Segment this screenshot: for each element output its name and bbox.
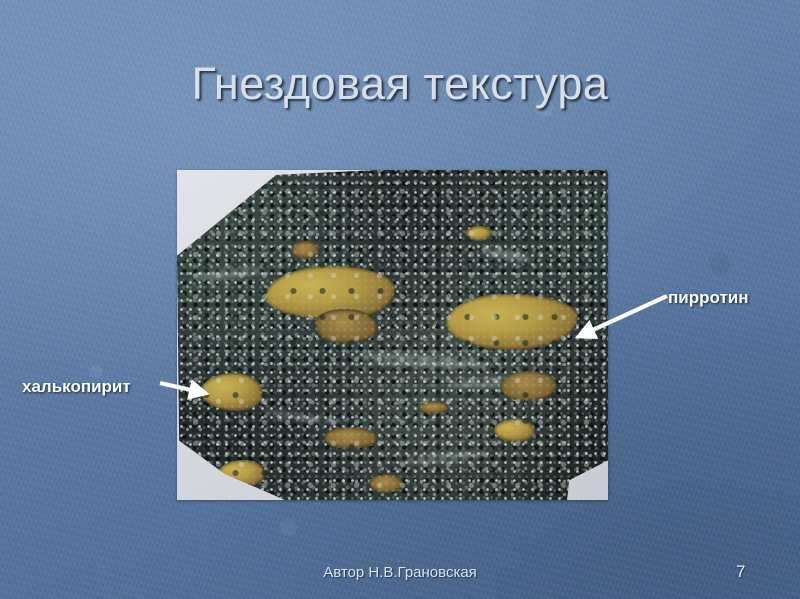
rock-specimen	[177, 170, 608, 500]
rock-sample-photo	[177, 170, 608, 500]
slide-title: Гнездовая текстура	[0, 58, 800, 110]
feldspar-streak	[358, 350, 488, 371]
sulfide-nest	[265, 266, 394, 320]
footer-author: Автор Н.В.Грановская	[0, 564, 800, 581]
annotation-label-pyrrhotite: пирротин	[668, 288, 749, 308]
sulfide-nest	[324, 427, 378, 448]
sulfide-nest	[494, 419, 535, 442]
sulfide-nest	[369, 474, 403, 494]
sulfide-nest	[500, 371, 556, 401]
sulfide-nest	[315, 309, 377, 344]
feldspar-streak	[478, 244, 531, 265]
feldspar-streak	[401, 450, 488, 465]
footer-page-number: 7	[736, 562, 745, 582]
sulfide-nest	[418, 401, 448, 414]
sulfide-nest	[466, 226, 492, 241]
sulfide-nest-chalcopyrite	[201, 373, 263, 411]
annotation-label-chalcopyrite: халькопирит	[22, 377, 131, 397]
sulfide-nest	[291, 241, 319, 259]
sulfide-nest-pyrrhotite	[446, 294, 577, 350]
feldspar-streak	[263, 409, 341, 427]
presentation-slide: Гнездовая текстура пирротин	[0, 0, 800, 599]
feldspar-streak	[194, 265, 264, 282]
feldspar-streak	[448, 375, 543, 389]
